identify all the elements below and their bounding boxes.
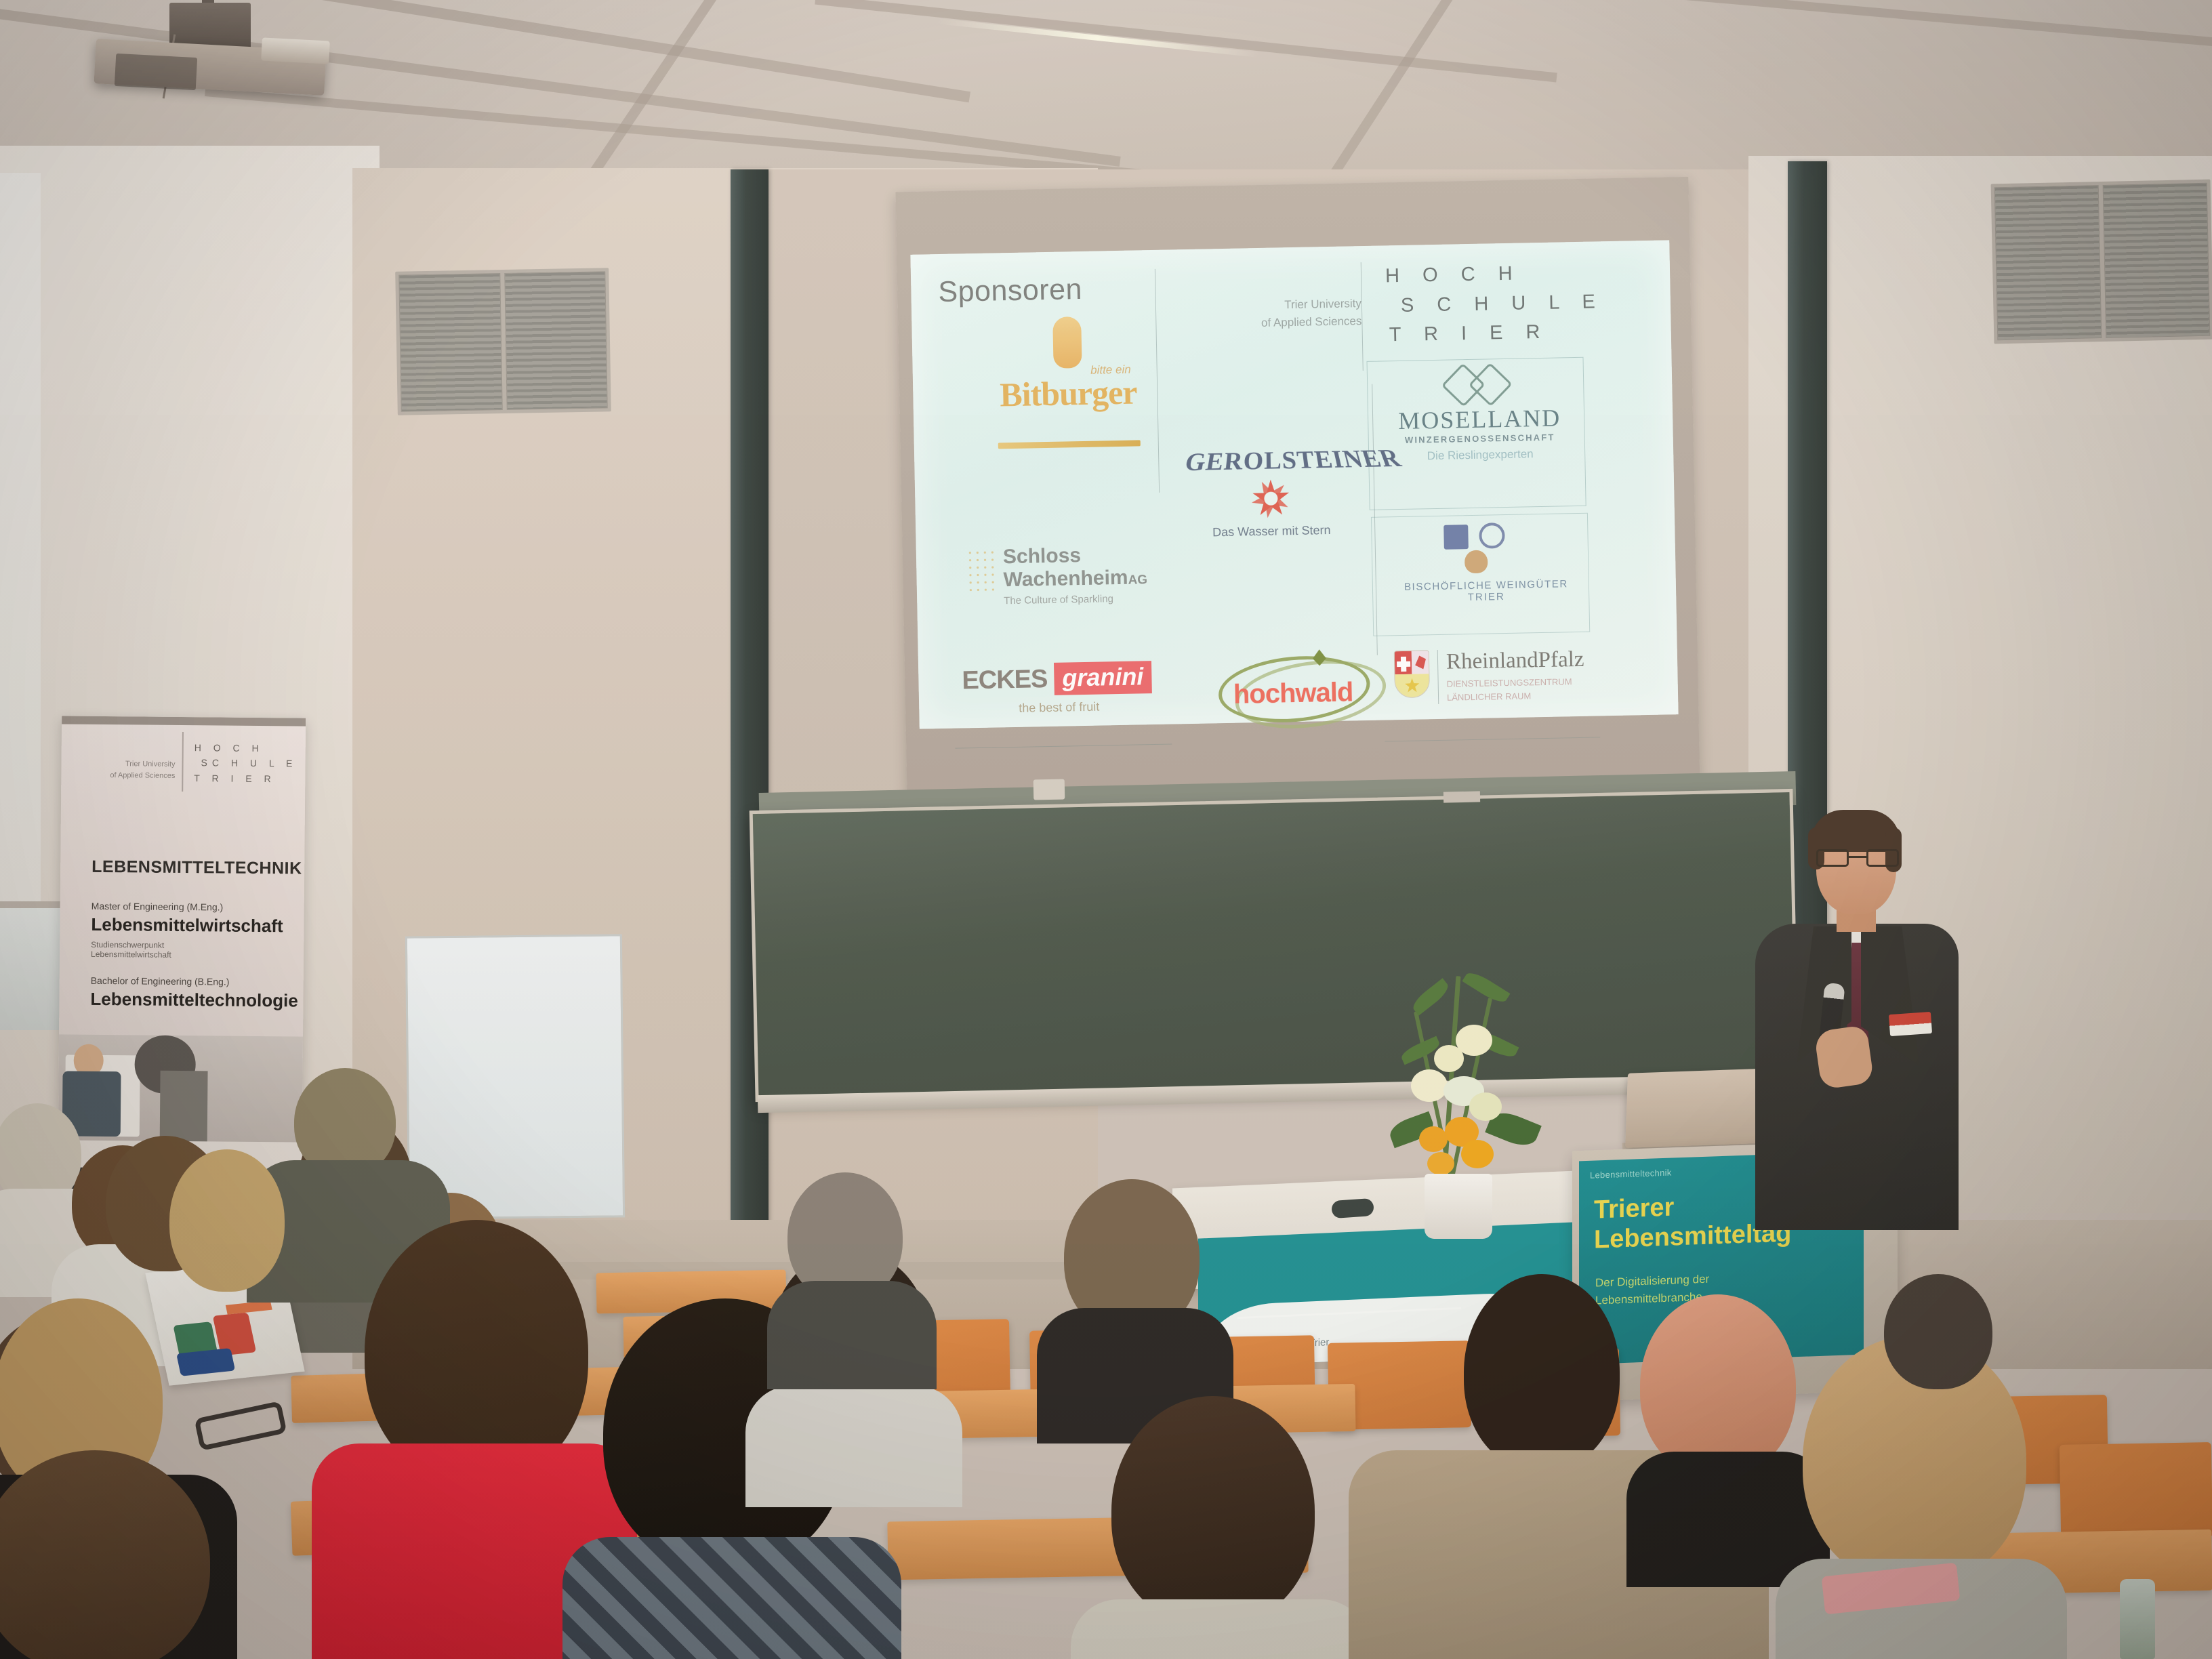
flower-orange — [1461, 1140, 1494, 1168]
projection-screen: Sponsoren Trier University of Applied Sc… — [910, 240, 1678, 729]
rlp-subtitle: DIENSTLEISTUNGSZENTRUM LÄNDLICHER RAUM — [1447, 675, 1585, 704]
projector-lens — [261, 37, 330, 64]
gerolsteiner-star-icon — [1252, 479, 1290, 518]
head — [1464, 1274, 1620, 1471]
ceiling-beam — [1458, 0, 2212, 51]
flower-white — [1469, 1092, 1502, 1121]
rollup-hochschule-logo: H O C H SC H U L E T R I E R — [194, 740, 297, 786]
sponsor-logo-hochwald: hochwald — [1204, 646, 1382, 737]
university-english-name: Trier University of Applied Sciences — [1192, 295, 1362, 333]
vent-slat-panel — [2103, 183, 2211, 338]
head — [1111, 1396, 1315, 1626]
bitburger-drop-icon — [1052, 316, 1082, 369]
hochwald-wordmark: hochwald — [1233, 677, 1353, 710]
sponsor-logo-eckes-granini: ECKES granini the best of fruit — [962, 661, 1166, 717]
rlp-sub1: DIENSTLEISTUNGSZENTRUM — [1447, 675, 1585, 691]
flower-orange — [1427, 1152, 1454, 1175]
rollup-program-master-sub: Studienschwerpunkt Lebensmittelwirtschaf… — [91, 940, 171, 960]
rollup-top-rail — [62, 716, 306, 726]
rollup-en1: Trier University — [88, 758, 175, 771]
rollup-wm3: T R I E R — [194, 771, 297, 787]
lectern-small-text: Lebensmitteltechnik — [1590, 1168, 1672, 1181]
sponsor-logo-bischoefliche-weingueter: BISCHÖFLICHE WEINGÜTER TRIER — [1390, 523, 1581, 605]
sponsor-logo-schloss-wachenheim: Schloss WachenheimAG The Culture of Spar… — [966, 543, 1171, 608]
hs-line2: S C H U L E — [1386, 287, 1605, 321]
rlp-wordmark: RheinlandPfalz — [1446, 647, 1584, 675]
sponsor-logo-gerolsteiner: GEROLSTEINER Das Wasser mit Stern — [1185, 444, 1357, 540]
bitburger-wordmark: Bitburger — [990, 376, 1147, 411]
head — [0, 1450, 210, 1659]
air-vent-icon — [1991, 180, 2212, 344]
moselland-wordmark: MOSELLAND — [1381, 403, 1578, 436]
rollup-wm1: H O C H — [194, 740, 298, 756]
rlp-sub2: LÄNDLICHER RAUM — [1447, 688, 1585, 703]
schloss-suffix: AG — [1128, 573, 1147, 588]
blackboard-clip — [1033, 779, 1065, 800]
window-left — [0, 173, 41, 905]
sponsor-logo-bitburger: bitte ein Bitburger — [989, 315, 1147, 449]
uni-en-line2: of Applied Sciences — [1192, 312, 1361, 333]
audience-person — [1647, 1308, 1850, 1538]
vent-slat-panel — [1994, 185, 2102, 340]
sponsor-logo-rheinland-pfalz: RheinlandPfalz DIENSTLEISTUNGSZENTRUM LÄ… — [1394, 647, 1598, 705]
audience-person — [583, 1355, 935, 1659]
speaker-person — [1735, 810, 1979, 1230]
flower-white — [1434, 1045, 1464, 1072]
vent-slat-panel — [398, 273, 502, 412]
rlp-word2: Pfalz — [1538, 647, 1584, 672]
schloss-line2: WachenheimAG — [1003, 566, 1170, 592]
presentation-remote — [1331, 1198, 1374, 1218]
bischoefliche-emblem-icon — [1434, 523, 1536, 577]
rheinland-pfalz-coat-of-arms-icon — [1394, 650, 1430, 698]
vase — [1425, 1174, 1492, 1239]
blackboard-clip — [1443, 791, 1480, 802]
rollup-program-bachelor: Lebensmitteltechnologie — [90, 989, 298, 1012]
slide-heading: Sponsoren — [938, 273, 1082, 309]
rollup-department: LEBENSMITTELTECHNIK — [91, 857, 302, 879]
projector-shadow — [115, 54, 197, 90]
rollup-divider — [182, 732, 184, 792]
torso — [1071, 1599, 1369, 1659]
rlp-word1: Rheinland — [1446, 648, 1538, 674]
rollup-english-name: Trier University of Applied Sciences — [88, 758, 175, 781]
lecture-hall-photo: Sponsoren Trier University of Applied Sc… — [0, 0, 2212, 1659]
schloss-tagline: The Culture of Sparkling — [1004, 592, 1170, 607]
moselland-diamond-icon — [1448, 367, 1511, 403]
gerolsteiner-wordmark: GEROLSTEINER — [1182, 445, 1359, 478]
rollup-en2: of Applied Sciences — [88, 769, 175, 781]
rollup-program-master: Lebensmittelwirtschaft — [91, 914, 283, 937]
audience-person — [1084, 1396, 1369, 1659]
audience-person — [787, 1172, 937, 1376]
hochschule-trier-logo: H O C H S C H U L E T R I E R — [1385, 258, 1605, 350]
rollup-degree-master: Master of Engineering (M.Eng.) — [91, 901, 224, 913]
eckes-word: ECKES — [962, 665, 1048, 695]
sponsor-logo-moselland: MOSELLAND WINZERGENOSSENSCHAFT Die Riesl… — [1380, 365, 1579, 464]
glasses-icon — [1816, 849, 1899, 867]
projector-icon — [95, 19, 325, 94]
head — [1884, 1274, 1992, 1389]
hs-line3: T R I E R — [1386, 316, 1605, 350]
bottle[interactable] — [2120, 1579, 2155, 1659]
flower-bouquet — [1369, 949, 1545, 1240]
air-vent-icon — [395, 268, 611, 415]
ceiling-beam — [815, 0, 1557, 82]
name-badge — [1889, 1012, 1932, 1036]
flower-white — [1411, 1069, 1448, 1102]
slide-divider — [1155, 269, 1160, 493]
lectern-title-line1: Trierer — [1594, 1193, 1674, 1225]
schloss-line1: Schloss — [1003, 543, 1170, 569]
vent-slat-panel — [504, 271, 608, 410]
gerolsteiner-tagline: Das Wasser mit Stern — [1187, 523, 1356, 540]
flower-orange — [1419, 1126, 1448, 1152]
blackboard — [750, 789, 1799, 1102]
schloss-line2-text: Wachenheim — [1003, 567, 1128, 592]
chair[interactable] — [2060, 1442, 2212, 1540]
schloss-dots-icon — [966, 548, 997, 591]
audience-person — [1857, 1274, 2033, 1450]
speaker-hand — [1814, 1025, 1874, 1090]
audience-person — [0, 1450, 251, 1659]
rollup-degree-bachelor: Bachelor of Engineering (B.Eng.) — [91, 975, 230, 987]
bitburger-underline — [998, 440, 1141, 449]
granini-word: granini — [1054, 661, 1152, 695]
hs-line1: H O C H — [1385, 258, 1604, 291]
rollup-wm2: SC H U L E — [194, 756, 297, 772]
head — [169, 1149, 285, 1292]
